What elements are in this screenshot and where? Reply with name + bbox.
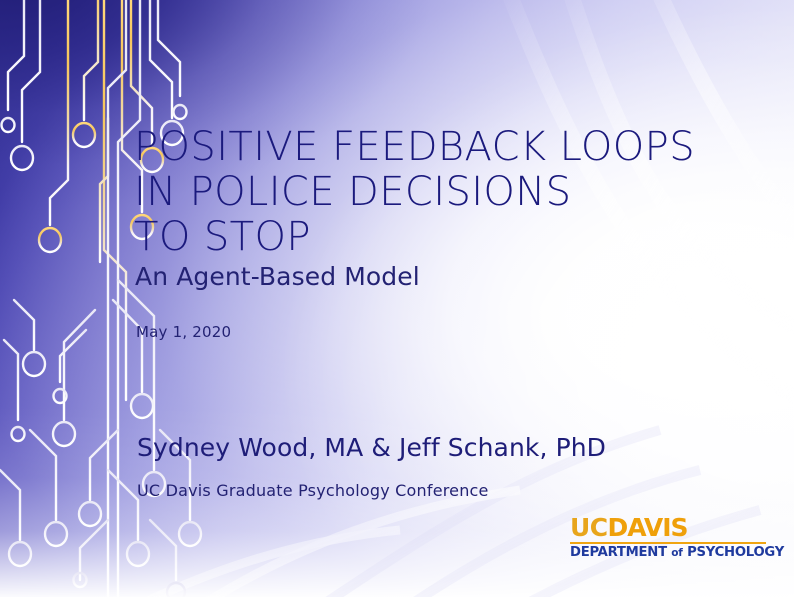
- presentation-slide: Positive Feedback Loops in Police Decisi…: [0, 0, 794, 597]
- slide-subtitle: An Agent-Based Model: [135, 262, 420, 291]
- uc-davis-psychology-logo: UCDAVIS DEPARTMENT of PSYCHOLOGY: [570, 515, 766, 561]
- slide-affiliation: UC Davis Graduate Psychology Conference: [137, 481, 489, 500]
- logo-department-of: of: [671, 547, 683, 559]
- logo-uc-text: UC: [570, 513, 607, 542]
- circuit-board-decoration: [0, 0, 230, 597]
- logo-davis-text: DAVIS: [607, 513, 687, 542]
- logo-wordmark: UCDAVIS: [570, 515, 766, 540]
- slide-authors: Sydney Wood, MA & Jeff Schank, PhD: [137, 433, 606, 462]
- logo-department-line: DEPARTMENT of PSYCHOLOGY: [570, 546, 766, 561]
- slide-title: Positive Feedback Loops in Police Decisi…: [134, 125, 734, 259]
- logo-divider-rule: [570, 542, 766, 544]
- logo-department-suffix: PSYCHOLOGY: [687, 545, 784, 560]
- slide-date: May 1, 2020: [136, 323, 231, 341]
- logo-department-prefix: DEPARTMENT: [570, 545, 667, 560]
